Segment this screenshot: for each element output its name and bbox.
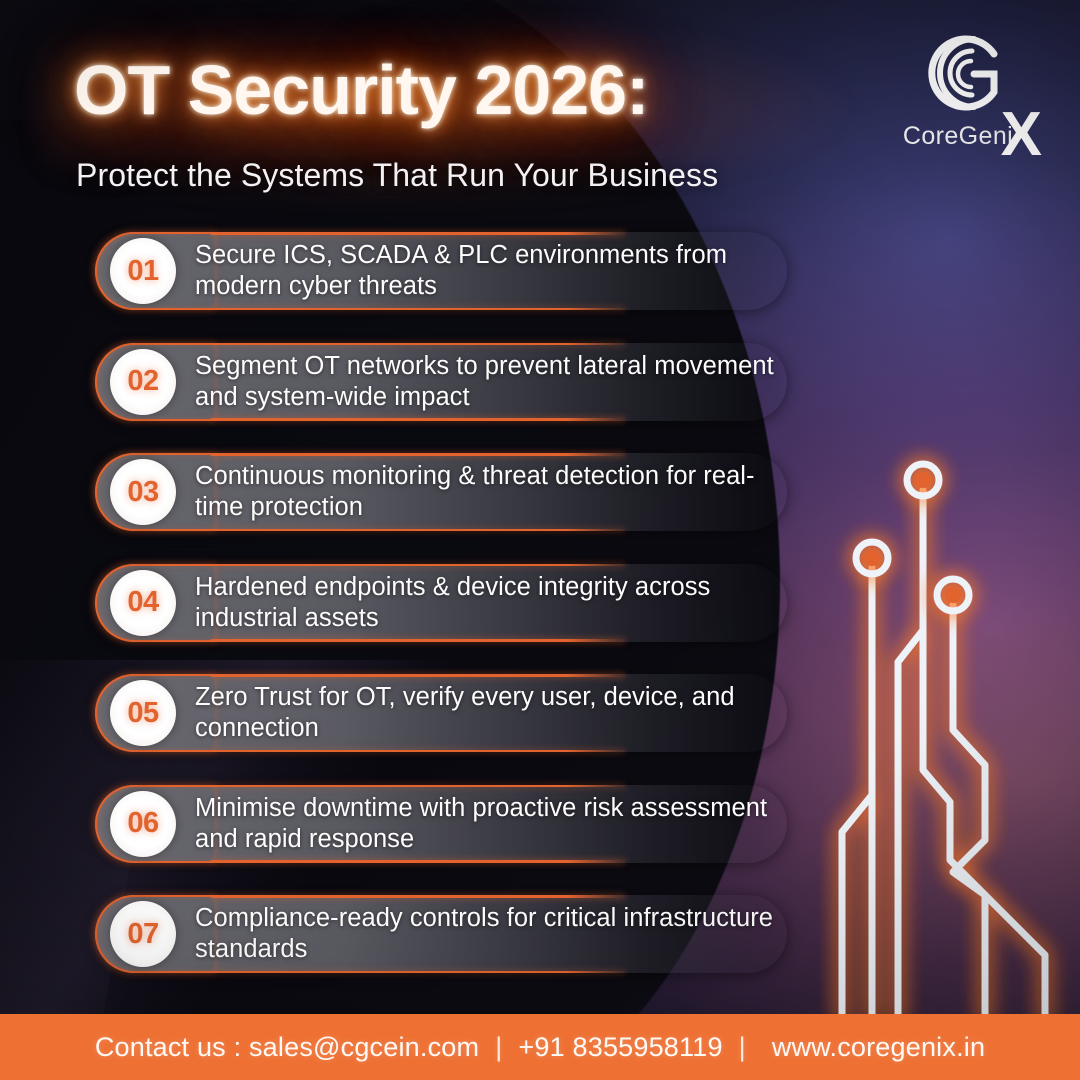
feature-card-accent-rule-top	[211, 453, 625, 456]
feature-card-accent-rule-bottom	[211, 418, 625, 421]
feature-card[interactable]: 05Zero Trust for OT, verify every user, …	[95, 674, 787, 752]
feature-card-accent-rule-top	[211, 343, 625, 346]
feature-card[interactable]: 06Minimise downtime with proactive risk …	[95, 785, 787, 863]
feature-number: 03	[127, 476, 158, 509]
feature-text: Continuous monitoring & threat detection…	[195, 461, 785, 523]
feature-card-accent-rule-top	[211, 785, 625, 788]
feature-card[interactable]: 04Hardened endpoints & device integrity …	[95, 564, 787, 642]
contact-footer-bar: Contact us : sales@cgcein.com | +91 8355…	[0, 1014, 1080, 1080]
feature-number: 05	[127, 697, 158, 730]
feature-list: 01Secure ICS, SCADA & PLC environments f…	[0, 0, 1080, 1014]
feature-card-accent-rule-top	[211, 674, 625, 677]
feature-number: 02	[127, 365, 158, 398]
feature-text: Secure ICS, SCADA & PLC environments fro…	[195, 240, 785, 302]
feature-number-badge: 05	[110, 680, 176, 746]
feature-text: Segment OT networks to prevent lateral m…	[195, 351, 785, 413]
feature-card[interactable]: 03Continuous monitoring & threat detecti…	[95, 453, 787, 531]
feature-card-accent-rule-top	[211, 232, 625, 235]
feature-card[interactable]: 01Secure ICS, SCADA & PLC environments f…	[95, 232, 787, 310]
feature-number-badge: 07	[110, 901, 176, 967]
feature-card-accent-rule-bottom	[211, 639, 625, 642]
feature-number: 01	[127, 255, 158, 288]
feature-number-badge: 01	[110, 238, 176, 304]
feature-card[interactable]: 07Compliance-ready controls for critical…	[95, 895, 787, 973]
feature-card-accent-rule-top	[211, 895, 625, 898]
feature-card-accent-rule-bottom	[211, 971, 625, 974]
feature-number-badge: 06	[110, 791, 176, 857]
feature-number-badge: 04	[110, 570, 176, 636]
footer-phone[interactable]: +91 8355958119	[518, 1032, 722, 1063]
feature-text: Minimise downtime with proactive risk as…	[195, 793, 785, 855]
feature-text: Compliance-ready controls for critical i…	[195, 903, 785, 965]
feature-text: Zero Trust for OT, verify every user, de…	[195, 682, 785, 744]
feature-card-accent-rule-bottom	[211, 860, 625, 863]
poster-canvas: OT Security 2026: Protect the Systems Th…	[0, 0, 1080, 1080]
feature-card-accent-rule-bottom	[211, 529, 625, 532]
feature-number: 04	[127, 586, 158, 619]
feature-number: 07	[127, 918, 158, 951]
feature-number-badge: 02	[110, 349, 176, 415]
footer-separator-1: |	[479, 1032, 518, 1063]
feature-card[interactable]: 02Segment OT networks to prevent lateral…	[95, 343, 787, 421]
footer-website[interactable]: www.coregenix.in	[762, 1032, 985, 1063]
footer-separator-2: |	[723, 1032, 762, 1063]
feature-card-accent-rule-bottom	[211, 308, 625, 311]
feature-number-badge: 03	[110, 459, 176, 525]
footer-contact-email[interactable]: Contact us : sales@cgcein.com	[95, 1032, 479, 1063]
feature-card-accent-rule-top	[211, 564, 625, 567]
feature-number: 06	[127, 807, 158, 840]
feature-text: Hardened endpoints & device integrity ac…	[195, 572, 785, 634]
feature-card-accent-rule-bottom	[211, 750, 625, 753]
